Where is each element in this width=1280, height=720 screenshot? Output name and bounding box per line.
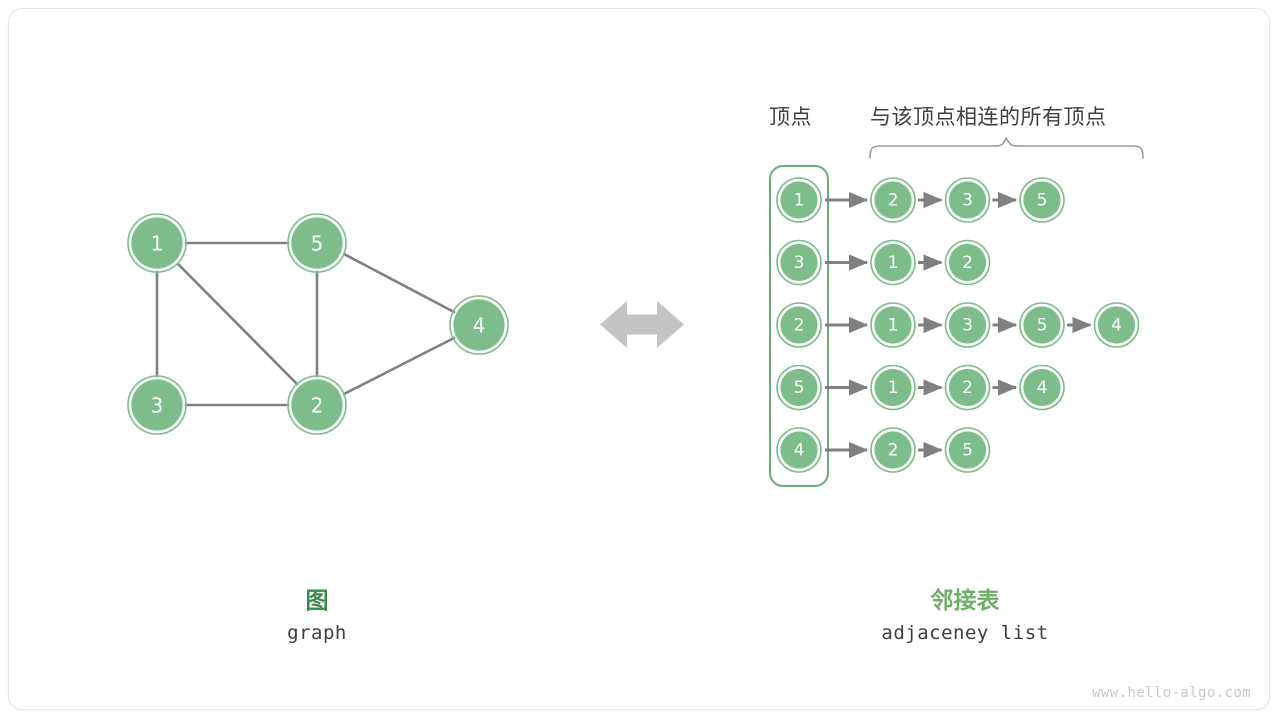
node-fill [131, 379, 182, 430]
header-neighbors-column: 与该顶点相连的所有顶点 [870, 101, 1107, 131]
node-fill [453, 299, 504, 350]
adjacency-vertex-5: 5 [777, 366, 821, 410]
adjacency-vertex-4: 4 [777, 428, 821, 472]
diagram-card: 15324 1235312213545124425 顶点 与该顶点相连的所有顶点… [8, 8, 1270, 710]
diagram-stage: 15324 1235312213545124425 顶点 与该顶点相连的所有顶点… [9, 9, 1270, 710]
adjacency-neighbor-5-2: 2 [946, 366, 990, 410]
node-fill [131, 217, 182, 268]
adjacency-neighbor-2-4: 4 [1095, 303, 1139, 347]
graph-edges [157, 243, 454, 405]
graph-node-1: 1 [128, 214, 186, 272]
graph-edge-2-4 [344, 338, 454, 394]
node-fill [949, 431, 986, 468]
adjlist-caption-cn: 邻接表 [865, 581, 1065, 615]
node-fill [949, 306, 986, 343]
adjlist-caption-en: adjaceney list [865, 622, 1065, 644]
adjacency-neighbor-2-5: 5 [1020, 303, 1064, 347]
header-vertex-column: 顶点 [769, 101, 812, 131]
node-fill [874, 306, 911, 343]
node-fill [874, 369, 911, 406]
node-fill [780, 431, 817, 468]
adjacency-neighbor-1-5: 5 [1020, 178, 1064, 222]
node-fill [949, 181, 986, 218]
node-fill [291, 217, 342, 268]
adjacency-vertex-1: 1 [777, 178, 821, 222]
node-fill [874, 181, 911, 218]
graph-edge-1-2 [178, 264, 297, 384]
graph-node-5: 5 [288, 214, 346, 272]
node-fill [780, 244, 817, 281]
node-fill [874, 431, 911, 468]
node-fill [1023, 369, 1060, 406]
adjacency-neighbor-1-2: 2 [871, 178, 915, 222]
adjacency-neighbor-4-2: 2 [871, 428, 915, 472]
adjacency-neighbor-1-3: 3 [946, 178, 990, 222]
adjacency-neighbor-4-5: 5 [946, 428, 990, 472]
graph-caption-cn: 图 [257, 581, 377, 615]
graph-edge-5-4 [344, 254, 454, 312]
adjacency-neighbor-2-3: 3 [946, 303, 990, 347]
node-fill [1098, 306, 1135, 343]
graph-caption-en: graph [257, 622, 377, 644]
adjacency-vertex-3: 3 [777, 241, 821, 285]
node-fill [949, 244, 986, 281]
watermark: www.hello-algo.com [1092, 685, 1251, 701]
graph-node-2: 2 [288, 376, 346, 434]
neighbors-brace-icon [870, 138, 1143, 158]
node-fill [780, 306, 817, 343]
node-fill [1023, 181, 1060, 218]
node-fill [780, 369, 817, 406]
adjacency-neighbor-3-2: 2 [946, 241, 990, 285]
adjacency-vertex-2: 2 [777, 303, 821, 347]
adjacency-neighbor-3-1: 1 [871, 241, 915, 285]
node-fill [291, 379, 342, 430]
graph-node-4: 4 [450, 296, 508, 354]
adjacency-neighbor-2-1: 1 [871, 303, 915, 347]
node-fill [874, 244, 911, 281]
node-fill [1023, 306, 1060, 343]
swap-arrow-icon [600, 301, 684, 348]
adjacency-neighbor-5-1: 1 [871, 366, 915, 410]
node-fill [780, 181, 817, 218]
adjacency-neighbor-5-4: 4 [1020, 366, 1064, 410]
graph-node-3: 3 [128, 376, 186, 434]
node-fill [949, 369, 986, 406]
